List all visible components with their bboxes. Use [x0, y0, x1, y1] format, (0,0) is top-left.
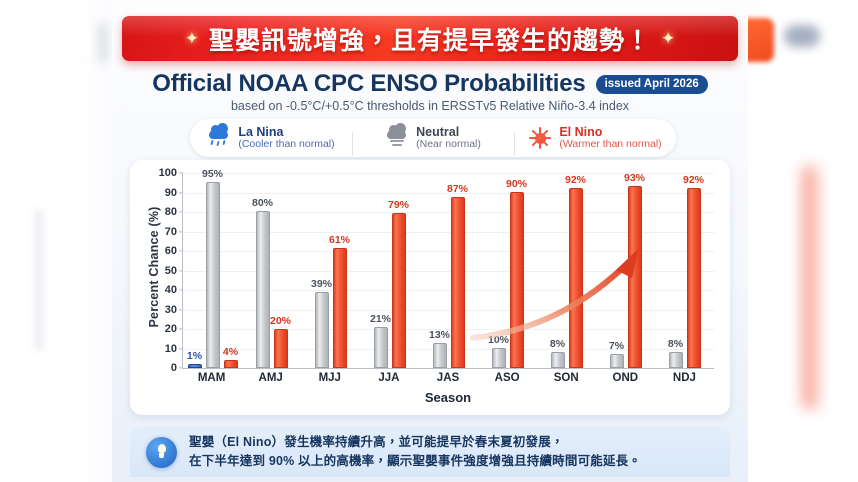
issued-badge: issued April 2026	[596, 75, 708, 94]
page-subtitle: based on -0.5°C/+0.5°C thresholds in ERS…	[112, 99, 748, 113]
y-tick-label: 40	[165, 284, 177, 296]
bar-el-nino-ndj[interactable]: 92%	[687, 188, 701, 368]
bar-el-nino-son[interactable]: 92%	[569, 188, 583, 368]
bar-el-nino-mjj[interactable]: 61%	[333, 248, 347, 368]
bar-value-label: 8%	[668, 338, 683, 350]
bar-value-label: 90%	[506, 178, 527, 190]
bar-value-label: 10%	[488, 334, 509, 346]
bar-group-aso: 10%90%	[478, 173, 537, 368]
legend-la-nina-name: La Nina	[238, 125, 334, 139]
x-axis-labels: MAMAMJMJJJJAJASASOSONONDNDJ	[182, 372, 714, 384]
y-axis-title: Percent Chance (%)	[147, 187, 161, 347]
cloud-icon	[385, 127, 409, 149]
bar-el-nino-mam[interactable]: 4%	[224, 360, 238, 368]
y-tick-label: 50	[165, 265, 177, 277]
bar-group-ond: 7%93%	[596, 173, 655, 368]
bar-value-label: 93%	[624, 172, 645, 184]
bar-value-label: 1%	[187, 350, 202, 362]
y-tick-label: 0	[171, 362, 177, 374]
y-tick-label: 30	[165, 304, 177, 316]
x-axis-title: Season	[182, 390, 714, 405]
y-tick-label: 20	[165, 323, 177, 335]
bar-value-label: 39%	[311, 278, 332, 290]
legend-el-nino-sub: (Warmer than normal)	[559, 139, 661, 151]
page-title: Official NOAA CPC ENSO Probabilities	[152, 70, 585, 98]
rain-cloud-icon	[207, 127, 231, 149]
bar-el-nino-jja[interactable]: 79%	[392, 213, 406, 368]
left-blank-panel	[0, 0, 112, 482]
bar-group-son: 8%92%	[537, 173, 596, 368]
bar-value-label: 21%	[370, 313, 391, 325]
plot-area: 0102030405060708090100 1%95%4%80%20%39%6…	[182, 173, 714, 369]
sparkle-left-icon: ✦	[185, 29, 199, 49]
bar-value-label: 95%	[202, 168, 223, 180]
legend-el-nino-text: El Nino (Warmer than normal)	[559, 125, 661, 151]
right-red-bar-blur	[801, 165, 818, 410]
bar-group-jja: 21%79%	[360, 173, 419, 368]
x-tick-label-son: SON	[537, 372, 596, 384]
infographic-poster: ✦ 聖嬰訊號增強，且有提早發生的趨勢！ ✦ Official NOAA CPC …	[112, 0, 748, 482]
right-gray-dot-blur	[784, 25, 820, 47]
bar-la-nina-mam[interactable]: 1%	[188, 364, 202, 368]
x-tick-label-mam: MAM	[182, 372, 241, 384]
bar-value-label: 92%	[565, 174, 586, 186]
title-row: Official NOAA CPC ENSO Probabilities iss…	[112, 70, 748, 98]
bar-group-mam: 1%95%4%	[183, 173, 242, 368]
bar-neutral-son[interactable]: 8%	[551, 352, 565, 368]
bar-el-nino-ond[interactable]: 93%	[628, 186, 642, 368]
y-tick-label: 90	[165, 187, 177, 199]
legend-neutral-name: Neutral	[416, 125, 481, 139]
bar-value-label: 79%	[388, 199, 409, 211]
bar-group-ndj: 8%92%	[655, 173, 714, 368]
y-tick-label: 80	[165, 206, 177, 218]
legend: La Nina (Cooler than normal) Neutral (Ne…	[190, 119, 676, 157]
bar-value-label: 13%	[429, 329, 450, 341]
bar-value-label: 80%	[252, 197, 273, 209]
x-tick-label-ndj: NDJ	[655, 372, 714, 384]
bar-groups: 1%95%4%80%20%39%61%21%79%13%87%10%90%8%9…	[183, 173, 714, 368]
bar-value-label: 87%	[447, 183, 468, 195]
bar-neutral-jja[interactable]: 21%	[374, 327, 388, 368]
sun-icon	[528, 127, 552, 149]
y-tick-label: 100	[159, 167, 177, 179]
y-tick-label: 70	[165, 226, 177, 238]
bar-neutral-mam[interactable]: 95%	[206, 182, 220, 368]
x-tick-label-ond: OND	[596, 372, 655, 384]
footer-note-text: 聖嬰（El Nino）發生機率持續升高，並可能提早於春末夏初發展， 在下半年達到…	[189, 433, 641, 472]
footer-note-line2: 在下半年達到 90% 以上的高機率，顯示聖嬰事件強度增強且持續時間可能延長。	[189, 452, 641, 471]
bar-el-nino-amj[interactable]: 20%	[274, 329, 288, 368]
bar-value-label: 61%	[329, 234, 350, 246]
legend-la-nina-sub: (Cooler than normal)	[238, 139, 334, 151]
y-tick-label: 60	[165, 245, 177, 257]
bar-group-amj: 80%20%	[242, 173, 301, 368]
bar-el-nino-jas[interactable]: 87%	[451, 197, 465, 368]
bar-value-label: 8%	[550, 338, 565, 350]
footer-note: 聖嬰（El Nino）發生機率持續升高，並可能提早於春末夏初發展， 在下半年達到…	[130, 427, 730, 477]
left-gray-smudge-blur	[98, 22, 108, 64]
headline-text: 聖嬰訊號增強，且有提早發生的趨勢！	[209, 21, 651, 57]
bar-value-label: 20%	[270, 315, 291, 327]
bar-value-label: 7%	[609, 340, 624, 352]
bar-neutral-amj[interactable]: 80%	[256, 211, 270, 368]
footer-note-line1: 聖嬰（El Nino）發生機率持續升高，並可能提早於春末夏初發展，	[189, 433, 641, 452]
chart-card: Percent Chance (%) 010203040506070809010…	[130, 160, 730, 415]
bar-neutral-mjj[interactable]: 39%	[315, 292, 329, 368]
left-gray-line-blur	[36, 210, 42, 350]
bar-neutral-jas[interactable]: 13%	[433, 343, 447, 368]
legend-item-el-nino[interactable]: El Nino (Warmer than normal)	[514, 125, 676, 151]
bar-value-label: 4%	[223, 346, 238, 358]
x-tick-label-jas: JAS	[418, 372, 477, 384]
legend-item-neutral[interactable]: Neutral (Near normal)	[352, 125, 514, 151]
legend-el-nino-name: El Nino	[559, 125, 661, 139]
legend-neutral-sub: (Near normal)	[416, 139, 481, 151]
y-tick-label: 10	[165, 343, 177, 355]
bar-neutral-ndj[interactable]: 8%	[669, 352, 683, 368]
sparkle-right-icon: ✦	[661, 29, 675, 49]
bar-value-label: 92%	[683, 174, 704, 186]
bar-group-jas: 13%87%	[419, 173, 478, 368]
legend-neutral-text: Neutral (Near normal)	[416, 125, 481, 151]
bar-neutral-aso[interactable]: 10%	[492, 348, 506, 368]
x-tick-label-amj: AMJ	[241, 372, 300, 384]
bar-neutral-ond[interactable]: 7%	[610, 354, 624, 368]
bar-group-mjj: 39%61%	[301, 173, 360, 368]
bar-el-nino-aso[interactable]: 90%	[510, 192, 524, 368]
lightbulb-icon	[146, 437, 177, 468]
headline-banner: ✦ 聖嬰訊號增強，且有提早發生的趨勢！ ✦	[122, 16, 738, 61]
x-tick-label-jja: JJA	[359, 372, 418, 384]
x-tick-label-aso: ASO	[478, 372, 537, 384]
x-tick-label-mjj: MJJ	[300, 372, 359, 384]
legend-item-la-nina[interactable]: La Nina (Cooler than normal)	[190, 125, 352, 151]
legend-la-nina-text: La Nina (Cooler than normal)	[238, 125, 334, 151]
